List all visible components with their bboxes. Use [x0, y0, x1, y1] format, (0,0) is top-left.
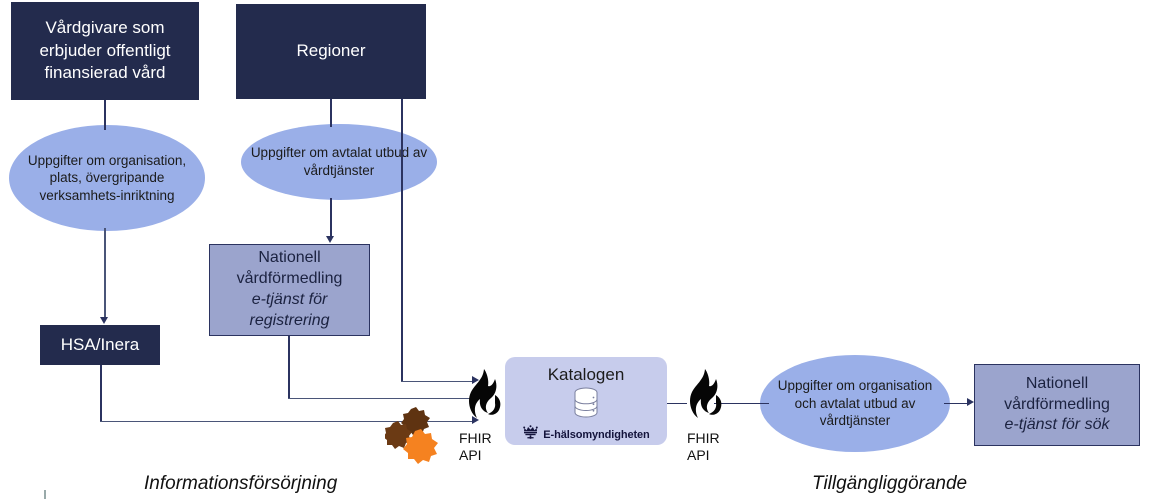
service-sok-line-3: e-tjänst för sök — [1005, 415, 1110, 436]
service-line-2: vårdförmedling — [237, 269, 343, 290]
gears-icon — [385, 407, 451, 472]
service-box-nvf-registrering: Nationell vårdförmedling e-tjänst för re… — [209, 244, 370, 336]
payload-ellipse-avtalat-utbud: Uppgifter om avtalat utbud av vårdtjänst… — [241, 124, 437, 200]
payload-ellipse-organisation: Uppgifter om organisation, plats, övergr… — [9, 125, 205, 231]
connector-nvf-down — [288, 336, 290, 398]
service-line-1: Nationell — [258, 248, 320, 269]
actor-box-hsa-inera: HSA/Inera — [40, 325, 160, 365]
service-line-4: registrering — [249, 311, 329, 332]
connector-regioner-right-down — [401, 99, 403, 381]
crown-icon — [522, 425, 539, 445]
fhir-api-label-out: FHIR API — [687, 430, 720, 463]
actor-label-vardgivare: Vårdgivare som erbjuder offentligt finan… — [17, 17, 193, 84]
katalogen-title: Katalogen — [548, 365, 625, 385]
caption-tillgangliggorande: Tillgängliggörande — [812, 473, 967, 495]
actor-label-hsa-inera: HSA/Inera — [61, 334, 139, 356]
arrow-down-to-nvf-registrering — [326, 236, 334, 243]
service-line-3: e-tjänst för — [252, 290, 328, 311]
arrow-right-to-nvf-sok — [967, 398, 974, 406]
caption-informationsforsorjning: Informationsförsörjning — [144, 473, 337, 495]
actor-label-regioner: Regioner — [297, 40, 366, 62]
ehalsomyndigheten-logo: E-hälsomyndigheten — [522, 425, 649, 445]
payload-label-organisation: Uppgifter om organisation, plats, övergr… — [17, 152, 197, 205]
connector-hsa-down — [100, 365, 102, 422]
connector-vardgivare-to-payload — [104, 100, 106, 130]
katalogen-logo-text: E-hälsomyndigheten — [543, 429, 649, 441]
fhir-out-line-1: FHIR — [687, 430, 720, 447]
fhir-out-line-2: API — [687, 447, 720, 464]
payload-label-org-och-avtalat: Uppgifter om organisation och avtalat ut… — [768, 377, 942, 430]
payload-ellipse-org-och-avtalat: Uppgifter om organisation och avtalat ut… — [760, 355, 950, 452]
bottom-tick-mark — [44, 490, 46, 499]
fhir-in-line-2: API — [459, 447, 492, 464]
connector-payload-to-nvf — [330, 198, 332, 236]
connector-payload-to-hsa — [104, 228, 106, 318]
flame-icon-fhir-in — [462, 368, 504, 435]
service-sok-line-1: Nationell — [1026, 374, 1088, 395]
actor-box-vardgivare: Vårdgivare som erbjuder offentligt finan… — [11, 2, 199, 100]
database-icon — [571, 387, 601, 424]
katalogen-container: Katalogen — [505, 357, 667, 445]
service-sok-line-2: vårdförmedling — [1004, 395, 1110, 416]
fhir-in-line-1: FHIR — [459, 430, 492, 447]
diagram-canvas: Vårdgivare som erbjuder offentligt finan… — [0, 0, 1149, 502]
flame-icon-fhir-out — [683, 368, 725, 435]
connector-payload-to-nvf-sok — [944, 403, 969, 405]
connector-regioner-to-payload — [330, 99, 332, 127]
connector-nvf-horizontal — [288, 398, 472, 400]
actor-box-regioner: Regioner — [236, 4, 426, 99]
arrow-down-to-hsa — [100, 317, 108, 324]
service-box-nvf-sok: Nationell vårdförmedling e-tjänst för sö… — [974, 364, 1140, 446]
fhir-api-label-in: FHIR API — [459, 430, 492, 463]
